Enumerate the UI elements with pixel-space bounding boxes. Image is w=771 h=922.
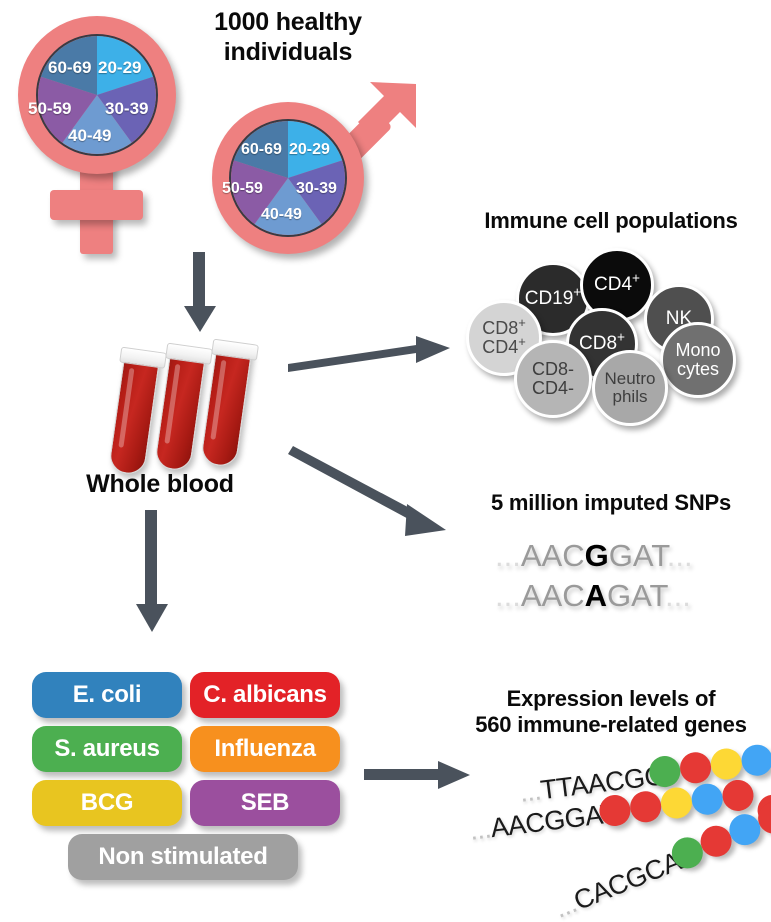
cohort-title-line1: 1000 healthy	[178, 8, 398, 38]
expression-title-line1: Expression levels of	[452, 686, 770, 712]
immune-cell-neutrophils-line2: phils	[613, 388, 648, 406]
immune-cell-cd8neg-cd4neg-line1: CD8-	[532, 360, 574, 379]
stimulus-e-coli[interactable]: E. coli	[32, 672, 182, 718]
snp-top-trail-dots: ...	[667, 538, 693, 573]
arrow-cohort-to-blood	[180, 252, 220, 342]
expression-bead	[690, 782, 725, 817]
snp-bottom-prefix: AAC	[521, 578, 585, 613]
stimulus-s-aureus[interactable]: S. aureus	[32, 726, 182, 772]
snp-bottom-trail-dots: ...	[665, 578, 691, 613]
snp-sequence-top: ...AACGGAT...	[495, 538, 693, 574]
arrow-blood-to-immune	[288, 330, 458, 390]
female-pie-label-40-49: 40-49	[68, 126, 111, 146]
blood-tube	[108, 354, 160, 476]
snp-top-suffix: GAT	[609, 538, 667, 573]
whole-blood-label: Whole blood	[60, 470, 260, 500]
blood-tube-gloss	[164, 364, 180, 444]
immune-cell-cluster: CD19+ CD4+ NK CD8+ CD4+ CD8+ Mono cytes …	[452, 240, 771, 430]
male-gender-symbol: 20-29 30-39 40-49 50-59 60-69	[208, 82, 423, 257]
cohort-title: 1000 healthy individuals	[178, 8, 398, 67]
arrow-blood-to-stimuli	[132, 510, 172, 640]
female-pie-label-60-69: 60-69	[48, 58, 91, 78]
snp-top-prefix: AAC	[521, 538, 585, 573]
snp-top-variant: G	[585, 538, 609, 573]
expression-strands: ...TTAACGG ...AACGGAT ...CACGCAA	[440, 748, 771, 908]
expression-title: Expression levels of 560 immune-related …	[452, 686, 770, 738]
immune-cell-monocytes: Mono cytes	[660, 322, 736, 398]
male-pie-label-40-49: 40-49	[261, 206, 302, 224]
blood-tube-cap	[119, 347, 167, 369]
figure-canvas: 1000 healthy individuals 20-29 30-39 40-…	[0, 0, 771, 922]
female-symbol-stem-cross	[50, 190, 143, 220]
expression-bead	[740, 743, 771, 778]
blood-tube-cap	[165, 343, 213, 365]
blood-tube-gloss	[118, 368, 134, 448]
expression-bead	[678, 751, 713, 786]
expression-title-line2: 560 immune-related genes	[452, 712, 770, 738]
blood-tube-gloss	[210, 360, 226, 440]
immune-cell-cd4-label: CD4+	[594, 275, 640, 295]
blood-tube-cap	[211, 339, 259, 361]
immune-populations-title: Immune cell populations	[452, 208, 770, 234]
male-pie-label-50-59: 50-59	[222, 180, 263, 198]
immune-cell-monocytes-line2: cytes	[677, 360, 719, 379]
stimulation-panel: E. coli C. albicans S. aureus Influenza …	[30, 672, 350, 898]
stimulus-influenza[interactable]: Influenza	[190, 726, 340, 772]
snp-bottom-suffix: GAT	[607, 578, 665, 613]
expression-bead	[709, 747, 744, 782]
immune-cell-neutrophils-line1: Neutro	[604, 370, 655, 388]
stimulus-non-stimulated[interactable]: Non stimulated	[68, 834, 298, 880]
arrow-blood-to-snps	[288, 452, 458, 562]
female-pie-label-50-59: 50-59	[28, 99, 71, 119]
snp-bottom-lead-dots: ...	[495, 578, 521, 613]
stimulus-seb[interactable]: SEB	[190, 780, 340, 826]
snps-title: 5 million imputed SNPs	[452, 490, 770, 516]
immune-cell-cd19-label: CD19+	[525, 289, 582, 309]
female-pie-label-30-39: 30-39	[105, 99, 148, 119]
snp-sequence-bottom: ...AACAGAT...	[495, 578, 691, 614]
female-gender-symbol: 20-29 30-39 40-49 50-59 60-69	[12, 14, 192, 264]
immune-cell-cd8neg-cd4neg-line2: CD4-	[532, 379, 574, 398]
stimulus-c-albicans[interactable]: C. albicans	[190, 672, 340, 718]
male-pie-label-30-39: 30-39	[296, 180, 337, 198]
male-pie-label-20-29: 20-29	[289, 141, 330, 159]
female-pie-label-20-29: 20-29	[98, 58, 141, 78]
expression-bead	[721, 778, 756, 813]
male-pie-label-60-69: 60-69	[241, 141, 282, 159]
stimulus-bcg[interactable]: BCG	[32, 780, 182, 826]
immune-cell-cd8neg-cd4neg: CD8- CD4-	[514, 340, 592, 418]
snp-bottom-variant: A	[585, 578, 607, 613]
cohort-title-line2: individuals	[178, 38, 398, 68]
expression-strand-2-sequence: AACGGAT	[489, 798, 618, 843]
immune-cell-cd8pos-cd4pos-line2: CD4+	[482, 338, 526, 357]
snp-top-lead-dots: ...	[495, 538, 521, 573]
immune-cell-monocytes-line1: Mono	[675, 341, 720, 360]
immune-cell-neutrophils: Neutro phils	[592, 350, 668, 426]
